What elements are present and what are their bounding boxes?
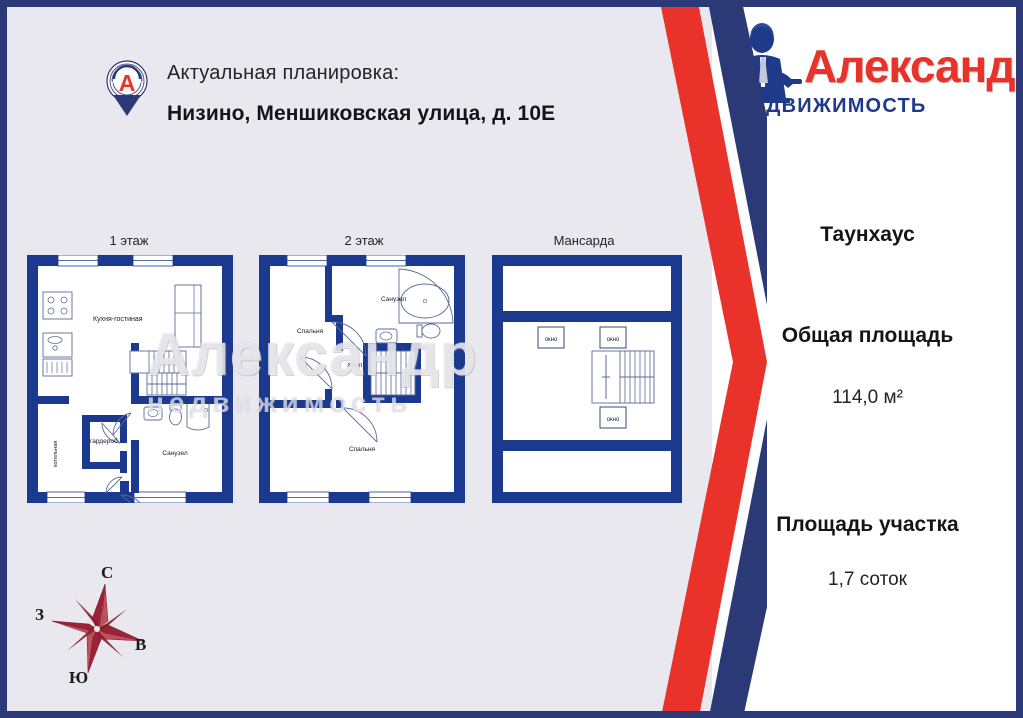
compass-south: Ю	[69, 668, 88, 688]
room-label-hall: Холл	[347, 362, 363, 369]
attic-window-3: окно	[600, 407, 626, 428]
floor-plan-1: Кухня-гостиная гардероб Санузел котельна…	[27, 255, 233, 503]
sink-icon	[376, 329, 397, 343]
plan-title-floor1: 1 этаж	[29, 233, 229, 248]
header-text: Актуальная планировка: Низино, Меншиковс…	[167, 62, 637, 126]
attic-window-1: окно	[538, 327, 564, 348]
svg-text:окно: окно	[545, 337, 558, 343]
compass-east: В	[135, 635, 146, 655]
svg-text:А: А	[119, 70, 136, 96]
closet-icon	[175, 285, 201, 347]
header: А Актуальная планировка: Низино, Меншико…	[7, 7, 667, 172]
page-frame: А Актуальная планировка: Низино, Меншико…	[0, 0, 1023, 718]
header-address: Низино, Меншиковская улица, д. 10Е	[167, 102, 637, 126]
compass-west: З	[35, 605, 44, 625]
svg-text:окно: окно	[607, 417, 620, 423]
map-pin-icon: А	[105, 59, 149, 117]
toilet-icon	[417, 324, 440, 338]
chevron-divider	[637, 7, 767, 717]
stove-icon	[43, 292, 72, 319]
room-label-bedroom-2: Спальня	[349, 446, 376, 453]
room-label-wardrobe: гардероб	[90, 437, 118, 445]
bath-sink-icon	[144, 407, 162, 420]
compass-rose: С З В Ю	[25, 563, 185, 698]
sink-icon	[43, 333, 72, 357]
header-subtitle: Актуальная планировка:	[167, 62, 637, 85]
toilet-icon	[170, 405, 182, 425]
room-label-bathroom2: Санузел	[381, 296, 407, 303]
cabinet-icon	[43, 359, 72, 376]
plan-title-floor2: 2 этаж	[264, 233, 464, 248]
room-label-bathroom1: Санузел	[162, 450, 188, 457]
room-label-kitchen: Кухня-гостиная	[93, 316, 143, 323]
floor-plan-2: Спальня Санузел Холл Спальня	[259, 255, 465, 503]
svg-text:окно: окно	[607, 337, 620, 343]
room-label-boiler: котельная	[53, 441, 59, 467]
room-label-bedroom-1: Спальня	[297, 328, 324, 335]
attic-window-2: окно	[600, 327, 626, 348]
compass-north: С	[101, 563, 113, 583]
logo-title: Александр	[804, 39, 1023, 93]
stairs-icon	[371, 351, 415, 395]
